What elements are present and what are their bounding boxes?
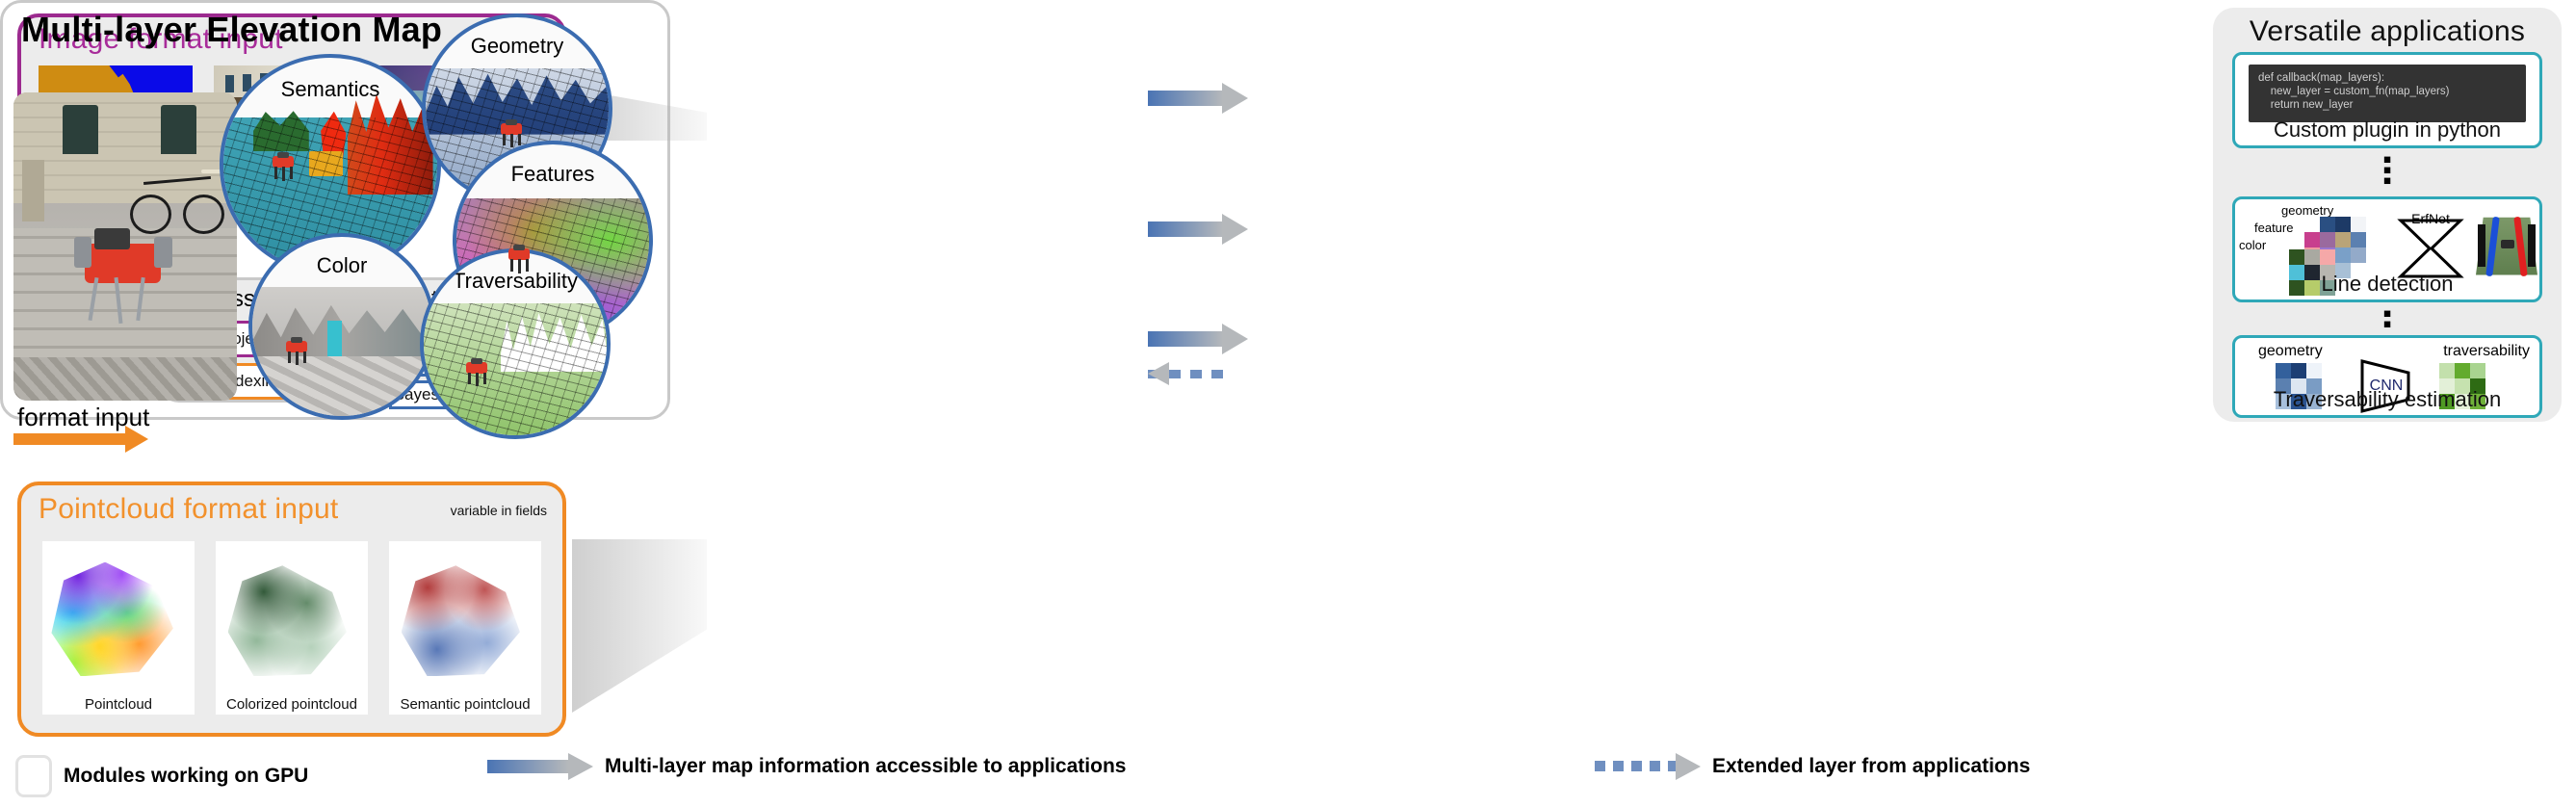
extended-layer-return-arrow [1148, 368, 1254, 379]
legend-item-gpu: Modules working on GPU [15, 755, 308, 797]
layer-circle-traversability[interactable]: Traversability [420, 248, 611, 439]
legend-label-extended-layer: Extended layer from applications [1712, 755, 2030, 778]
robot-icon-color [284, 337, 309, 366]
line-detection-geometry-label: geometry [2281, 203, 2333, 218]
legend-item-map-info: Multi-layer map information accessible t… [487, 755, 1126, 778]
map-to-app-arrow-3 [1148, 331, 1248, 347]
pointcloud-input-arrow [13, 433, 148, 445]
figure-root: Image format input Semantic image (C=1) [0, 0, 2576, 807]
trav-traversability-label: traversability [2443, 343, 2530, 360]
colorized-pointcloud-thumb: Colorized pointcloud [216, 541, 368, 715]
versatile-applications-title: Versatile applications [2213, 15, 2562, 48]
legend-label-map-info: Multi-layer map information accessible t… [605, 755, 1126, 778]
erfnet-label: ErfNet [2397, 189, 2464, 248]
layer-circle-color[interactable]: Color [248, 233, 435, 420]
legend-item-extended-layer: Extended layer from applications [1595, 755, 2030, 778]
legend-label-gpu: Modules working on GPU [64, 765, 308, 788]
app-traversability-estimation[interactable]: geometry traversability CNN Traversabili… [2232, 335, 2542, 418]
legend: Modules working on GPU Multi-layer map i… [15, 753, 2558, 797]
perspective-wedge-bottom [572, 539, 707, 713]
map-to-app-arrow-2 [1148, 221, 1248, 237]
app-line-detection-caption: Line detection [2235, 272, 2539, 297]
ellipsis-1: ▪▪▪ [2213, 154, 2562, 186]
ellipsis-2: ▪▪ [2213, 308, 2562, 329]
semantic-pointcloud-caption: Semantic pointcloud [389, 695, 541, 715]
app-custom-plugin-caption: Custom plugin in python [2235, 117, 2539, 143]
layer-label-features: Features [456, 162, 649, 187]
pointcloud-format-input-panel: Pointcloud format input variable in fiel… [17, 482, 566, 737]
line-detection-color-label: color [2239, 238, 2266, 252]
line-detection-result-art [2476, 215, 2537, 280]
variable-in-fields-note: variable in fields [451, 503, 547, 518]
app-line-detection[interactable]: geometry feature color ErfNet [2232, 196, 2542, 302]
trav-geometry-label: geometry [2258, 343, 2323, 360]
pointcloud-format-input-title: Pointcloud format input [39, 493, 338, 526]
robot-scene-photo [13, 92, 237, 401]
map-to-app-arrow-1 [1148, 91, 1248, 106]
line-detection-feature-label: feature [2254, 221, 2293, 235]
layer-label-traversability: Traversability [424, 269, 607, 294]
layer-label-color: Color [252, 253, 431, 278]
pointcloud-thumb: Pointcloud [42, 541, 195, 715]
colorized-pointcloud-caption: Colorized pointcloud [216, 695, 368, 715]
pointcloud-caption: Pointcloud [42, 695, 195, 715]
semantic-pointcloud-thumb: Semantic pointcloud [389, 541, 541, 715]
robot-icon-semantics [271, 152, 296, 181]
python-code-block: def callback(map_layers): new_layer = cu… [2249, 65, 2526, 122]
dotted-arrow-icon [1595, 760, 1701, 773]
map-panel-title: Multi-layer Elevation Map [21, 10, 442, 50]
gpu-module-box-icon [15, 755, 52, 797]
app-custom-plugin[interactable]: def callback(map_layers): new_layer = cu… [2232, 52, 2542, 148]
gradient-arrow-icon [487, 760, 593, 773]
robot-icon-traversability [464, 358, 489, 387]
layer-label-semantics: Semantics [223, 77, 437, 102]
layer-label-geometry: Geometry [426, 34, 609, 59]
versatile-applications-panel: Versatile applications def callback(map_… [2213, 8, 2562, 422]
robot-icon-geometry [499, 119, 524, 148]
app-traversability-caption: Traversability estimation [2235, 387, 2539, 412]
